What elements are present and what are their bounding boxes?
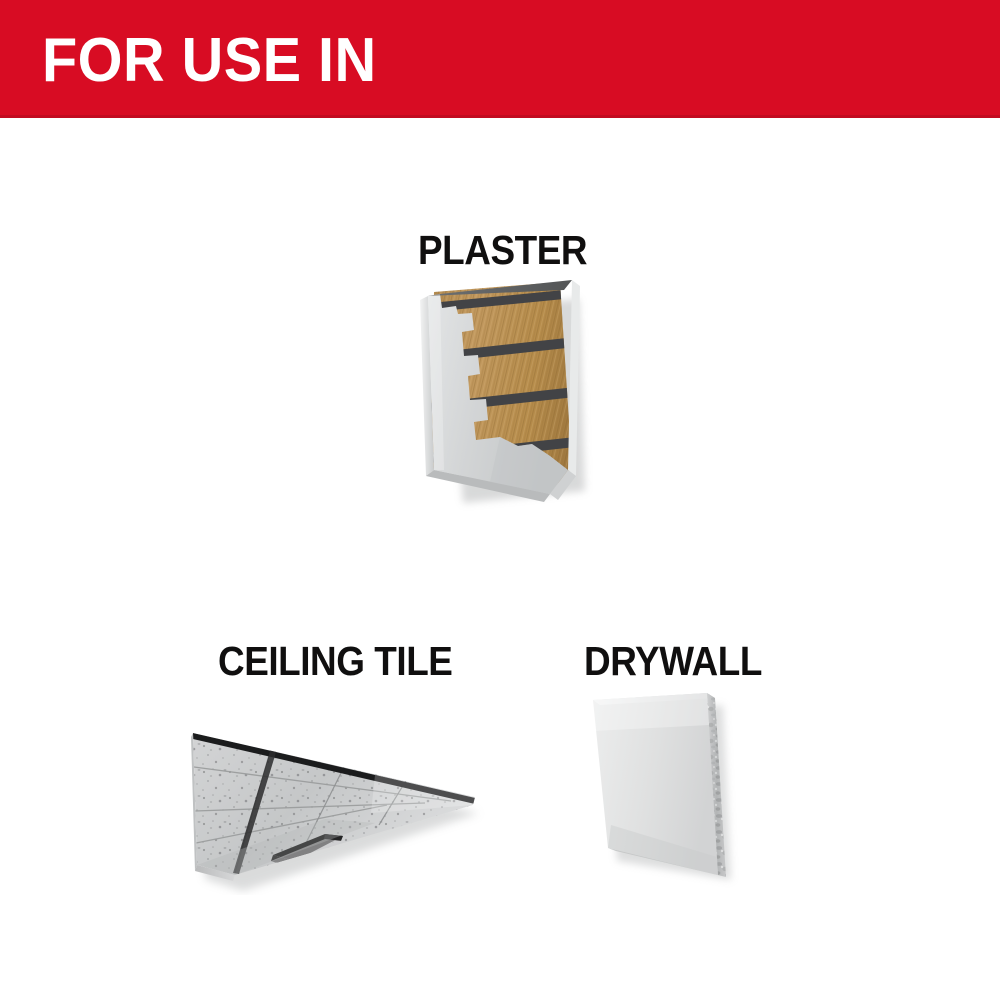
suspended-ceiling-tile-icon bbox=[175, 715, 495, 895]
page-title: FOR USE IN bbox=[42, 30, 377, 92]
header-band: FOR USE IN bbox=[0, 0, 1000, 118]
material-label-plaster: PLASTER bbox=[418, 230, 587, 271]
plaster-wall-section-icon bbox=[400, 270, 610, 515]
material-label-ceiling-tile: CEILING TILE bbox=[218, 641, 452, 682]
ceiling-plane bbox=[175, 715, 495, 895]
drywall-sheet-icon bbox=[575, 685, 770, 895]
material-label-drywall: DRYWALL bbox=[584, 641, 762, 682]
